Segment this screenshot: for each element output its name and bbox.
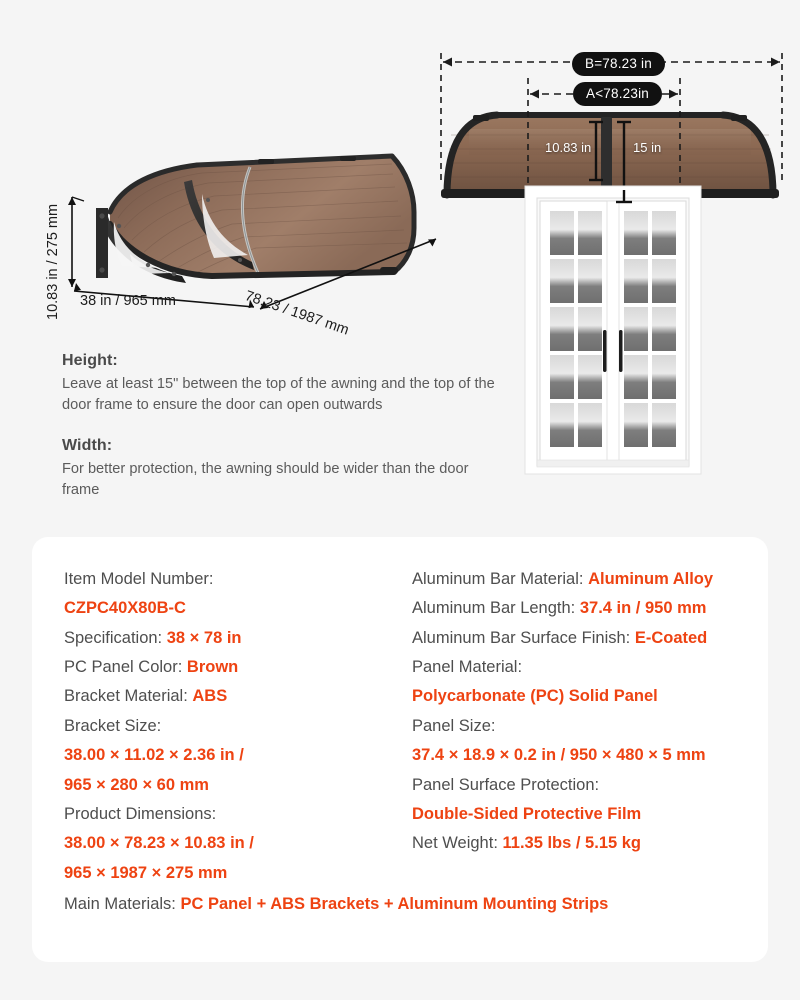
spec-label: Aluminum Bar Length:: [412, 599, 575, 617]
spec-row: Specification: 38 × 78 in: [64, 624, 400, 653]
spec-label: Panel Material:: [412, 658, 522, 676]
height-instruction-heading: Height:: [62, 352, 512, 370]
spec-row: Bracket Material: ABS: [64, 682, 400, 711]
overall-width-pill: B=78.23 in: [572, 52, 665, 76]
spec-label: Main Materials:: [64, 895, 176, 913]
spec-label: Aluminum Bar Surface Finish:: [412, 629, 630, 647]
spec-value: 37.4 in / 950 mm: [580, 599, 707, 617]
spec-column-left: Item Model Number: CZPC40X80B-C Specific…: [32, 565, 400, 888]
spec-row: PC Panel Color: Brown: [64, 653, 400, 682]
spec-row: Panel Material:: [412, 653, 768, 682]
spec-row: CZPC40X80B-C: [64, 594, 400, 623]
width-instruction-body: For better protection, the awning should…: [62, 459, 504, 500]
spec-value: PC Panel + ABS Brackets + Aluminum Mount…: [180, 895, 608, 913]
spec-value: 38 × 78 in: [167, 629, 242, 647]
spec-row: 965 × 280 × 60 mm: [64, 771, 400, 800]
spec-label: Item Model Number:: [64, 570, 213, 588]
door-handle-right: [619, 330, 623, 372]
spec-value: 11.35 lbs / 5.15 kg: [503, 834, 642, 852]
spec-row: Net Weight: 11.35 lbs / 5.15 kg: [412, 829, 768, 858]
spec-label: Bracket Material:: [64, 687, 188, 705]
spec-label: Net Weight:: [412, 834, 498, 852]
spec-value: E-Coated: [635, 629, 707, 647]
spec-value: Brown: [187, 658, 238, 676]
spec-label: Product Dimensions:: [64, 805, 216, 823]
spec-row: Panel Surface Protection:: [412, 771, 768, 800]
spec-row: Double-Sided Protective Film: [412, 800, 768, 829]
clearance-label: 15 in: [633, 140, 661, 155]
clearance-end-tick: [610, 188, 640, 210]
spec-row: 37.4 × 18.9 × 0.2 in / 950 × 480 × 5 mm: [412, 741, 768, 770]
spec-row: Bracket Size:: [64, 712, 400, 741]
spec-row: Aluminum Bar Material: Aluminum Alloy: [412, 565, 768, 594]
product-spec-page: 10.83 in / 275 mm 38 in / 965 mm 78.23 /…: [0, 0, 800, 1000]
main-materials-row: Main Materials: PC Panel + ABS Brackets …: [32, 888, 768, 919]
spec-row: Aluminum Bar Surface Finish: E-Coated: [412, 624, 768, 653]
spec-label: Panel Size:: [412, 717, 495, 735]
spec-label: PC Panel Color:: [64, 658, 182, 676]
height-instruction-body: Leave at least 15" between the top of th…: [62, 374, 504, 415]
spec-row: Aluminum Bar Length: 37.4 in / 950 mm: [412, 594, 768, 623]
spec-row: Product Dimensions:: [64, 800, 400, 829]
spec-column-right: Aluminum Bar Material: Aluminum Alloy Al…: [400, 565, 768, 888]
iso-depth-dimension-label: 38 in / 965 mm: [80, 293, 176, 309]
spec-row: Panel Size:: [412, 712, 768, 741]
specification-card: Item Model Number: CZPC40X80B-C Specific…: [32, 537, 768, 962]
spec-row: 965 × 1987 × 275 mm: [64, 859, 400, 888]
door-handle-left: [603, 330, 607, 372]
spec-row: 38.00 × 78.23 × 10.83 in /: [64, 829, 400, 858]
french-door-illustration: [523, 182, 703, 477]
spec-row: 38.00 × 11.02 × 2.36 in /: [64, 741, 400, 770]
door-width-pill: A<78.23in: [573, 82, 662, 106]
spec-value: Aluminum Alloy: [588, 570, 713, 588]
diagram-area: 10.83 in / 275 mm 38 in / 965 mm 78.23 /…: [0, 0, 800, 537]
spec-value: ABS: [192, 687, 227, 705]
spec-label: Bracket Size:: [64, 717, 161, 735]
spec-columns: Item Model Number: CZPC40X80B-C Specific…: [32, 537, 768, 888]
projection-label: 10.83 in: [545, 140, 591, 155]
spec-label: Panel Surface Protection:: [412, 776, 599, 794]
installation-instructions: Height: Leave at least 15" between the t…: [62, 352, 512, 501]
spec-label: Specification:: [64, 629, 162, 647]
spec-row: Item Model Number:: [64, 565, 400, 594]
spec-label: Aluminum Bar Material:: [412, 570, 583, 588]
iso-height-dimension-label: 10.83 in / 275 mm: [45, 204, 61, 320]
spec-row: Polycarbonate (PC) Solid Panel: [412, 682, 768, 711]
width-instruction-heading: Width:: [62, 437, 512, 455]
